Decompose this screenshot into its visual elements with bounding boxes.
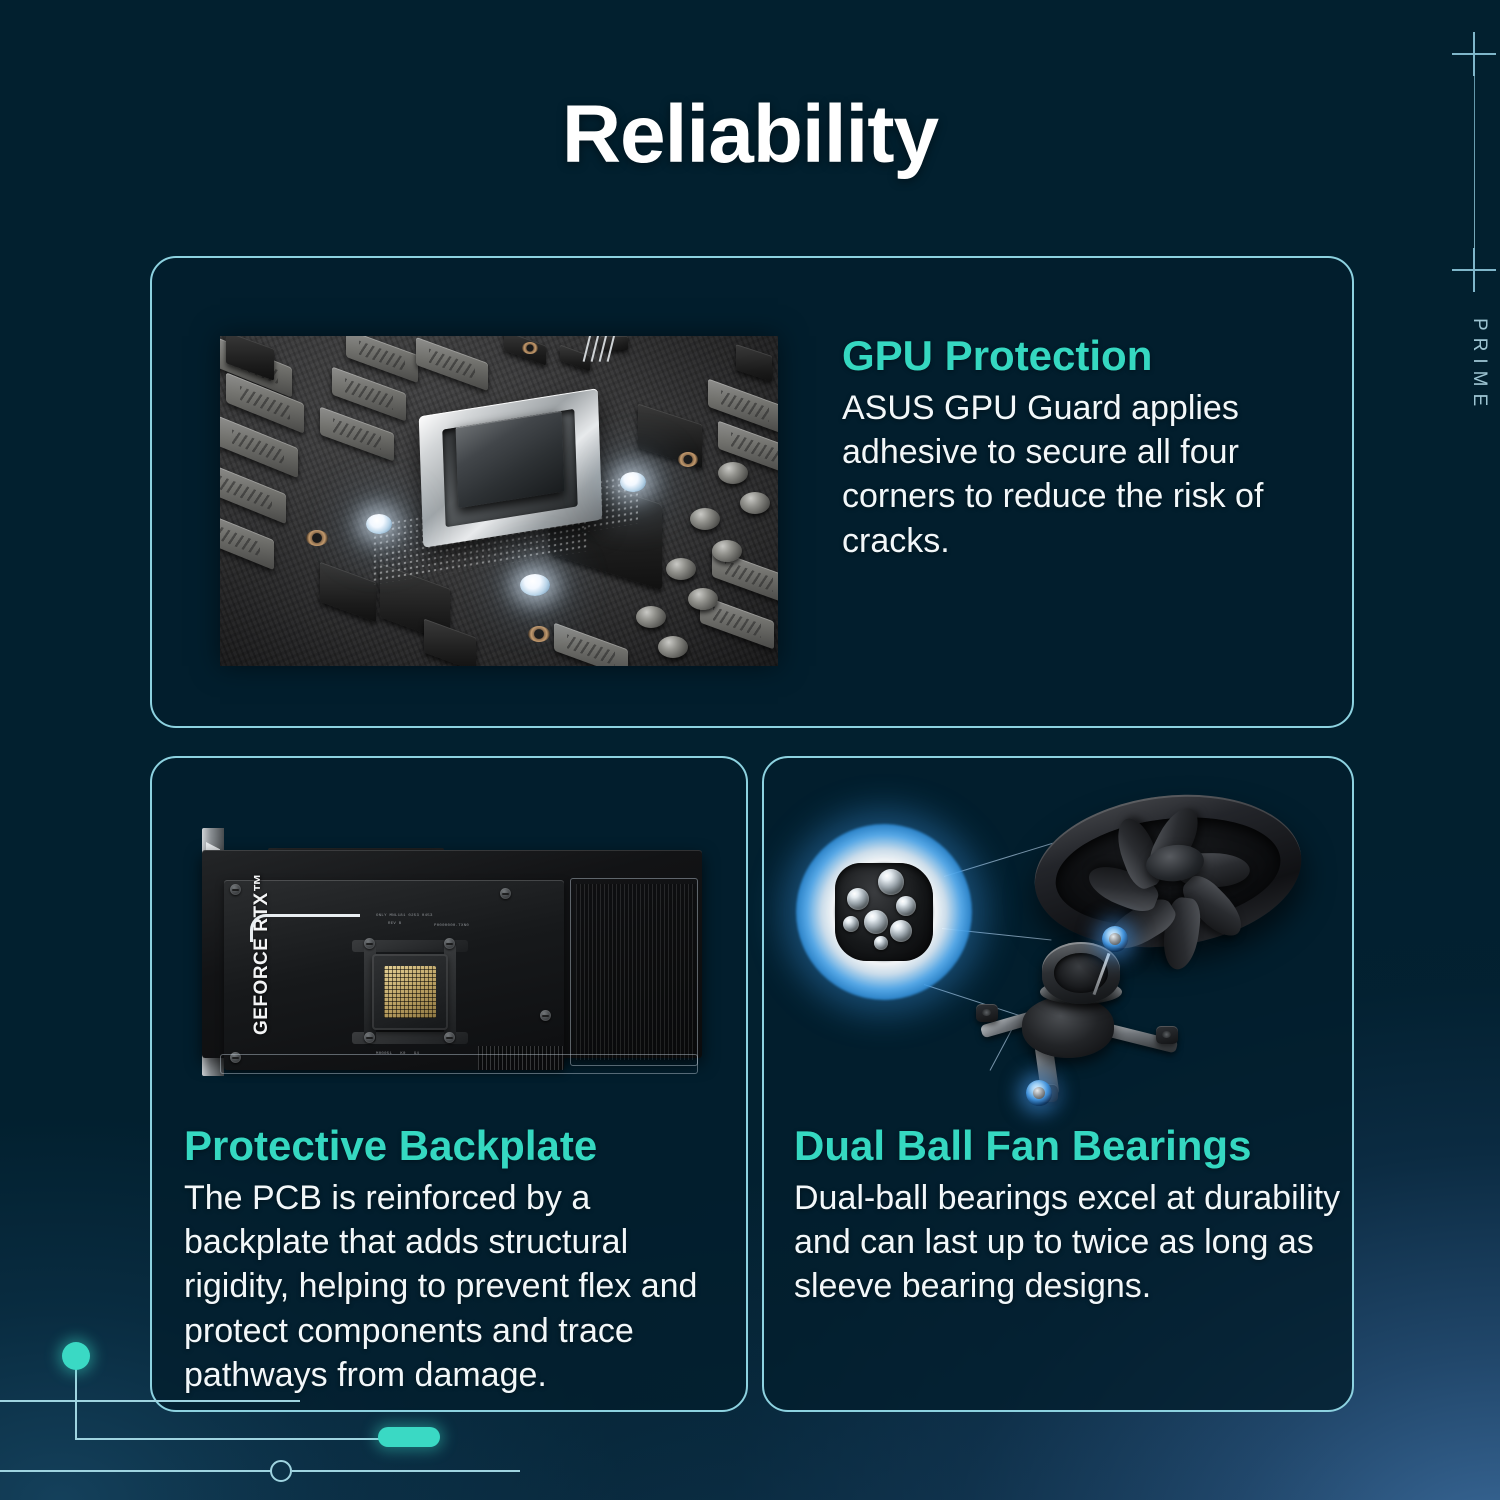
page-title: Reliability [0,88,1500,182]
glowing-screw-icon-bottom [1026,1080,1052,1106]
gpu-protection-body: ASUS GPU Guard applies adhesive to secur… [842,386,1290,563]
adhesive-glow-blob [620,472,646,492]
backplate-title: Protective Backplate [184,1124,730,1168]
geforce-rtx-label: GEFORCE RTX™ [251,875,273,1035]
backplate-panel: GEFORCE RTX™ [224,880,564,1070]
graphics-card-backplate-photo: GEFORCE RTX™ [180,800,718,1098]
glowing-screw-icon-top [1102,926,1128,952]
adhesive-glow-blob [520,574,550,596]
card-dual-ball-fan-bearings: Dual Ball Fan Bearings Dual-ball bearing… [762,756,1354,1412]
gpu-die-closeup-photo [220,336,778,666]
rail-label-prime: PRIME [1460,318,1490,413]
circuit-node-pill [378,1427,440,1447]
fan-bearings-title: Dual Ball Fan Bearings [794,1124,1346,1168]
circuit-node-hollow [270,1460,292,1482]
circuit-node-filled [62,1342,90,1370]
fan-bearings-text-block: Dual Ball Fan Bearings Dual-ball bearing… [794,1124,1346,1309]
plus-mark-icon-top [1452,32,1496,76]
dual-ball-bearing-exploded-diagram [784,788,1336,1106]
plus-mark-icon-bottom [1452,248,1496,292]
bearing-magnifier-inset [796,824,972,1000]
circuit-trace-graphic [0,1290,520,1500]
gpu-protection-text-block: GPU Protection ASUS GPU Guard applies ad… [842,334,1290,563]
bearing-hub-assembly [984,934,1174,1104]
fan-bearings-body: Dual-ball bearings excel at durability a… [794,1176,1346,1309]
gpu-protection-title: GPU Protection [842,334,1290,378]
gpu-gold-pads [384,966,436,1018]
card-gpu-protection: GPU Protection ASUS GPU Guard applies ad… [150,256,1354,728]
adhesive-glow-blob [366,514,392,534]
